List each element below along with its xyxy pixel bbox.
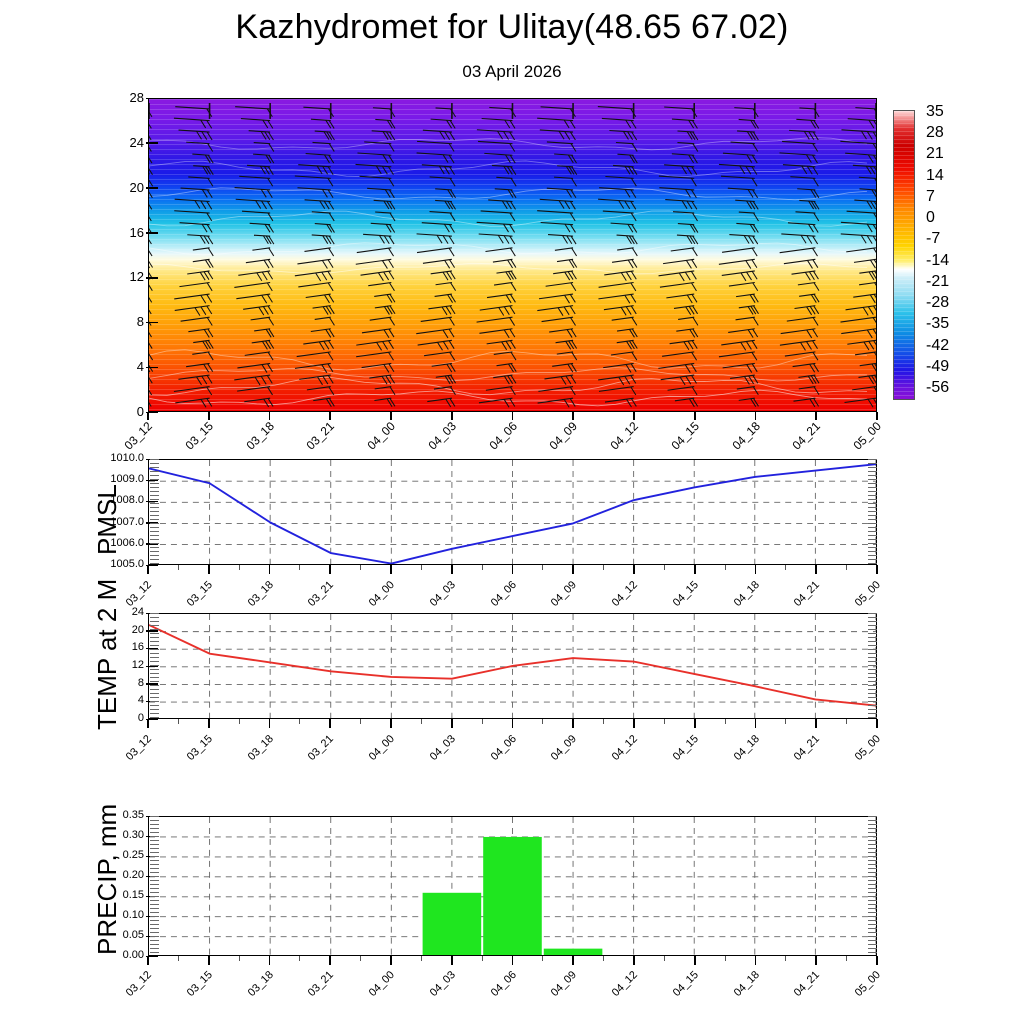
x-tick-mark [208, 412, 210, 420]
x-minor-tick-mark [178, 956, 179, 961]
y-tick-label: 24 [68, 136, 144, 149]
y-tick-mark [146, 232, 158, 234]
x-minor-tick-mark [846, 565, 847, 570]
x-tick-mark [512, 412, 514, 420]
x-tick-label: 04_12 [587, 970, 640, 1023]
y-tick-label: 28 [68, 91, 144, 104]
x-tick-mark [572, 412, 574, 420]
x-tick-label: 05_00 [830, 970, 883, 1023]
colorbar-stripes [894, 111, 914, 399]
x-tick-mark [512, 565, 514, 574]
x-tick-mark [451, 412, 453, 420]
colorbar-tick-label: -56 [926, 380, 949, 396]
x-tick-mark [329, 719, 331, 728]
x-tick-mark [876, 956, 878, 965]
x-minor-tick-mark [542, 719, 543, 724]
temp-plot [149, 614, 876, 719]
colorbar-tick-label: 14 [926, 168, 944, 184]
x-tick-mark [390, 719, 392, 728]
pmsl-plot [149, 460, 876, 565]
x-minor-tick-mark [482, 719, 483, 724]
x-minor-tick-mark [482, 565, 483, 570]
x-minor-tick-mark [846, 719, 847, 724]
x-minor-tick-mark [239, 565, 240, 570]
x-minor-tick-mark [421, 565, 422, 570]
colorbar-tick-label: 35 [926, 104, 944, 120]
x-tick-mark [390, 565, 392, 574]
x-tick-mark [572, 956, 574, 965]
x-minor-tick-mark [664, 565, 665, 570]
x-tick-mark [451, 956, 453, 965]
x-tick-mark [147, 565, 149, 574]
x-tick-mark [876, 565, 878, 574]
x-tick-label: 03_15 [162, 970, 215, 1023]
colorbar-tick-label: 21 [926, 146, 944, 162]
y-tick-label: 0.00 [68, 950, 144, 961]
y-tick-label: 0.30 [68, 830, 144, 841]
x-tick-mark [633, 719, 635, 728]
y-tick-label: 0 [68, 713, 144, 724]
minor-tick-ladder [150, 613, 159, 719]
precip-panel [148, 816, 877, 956]
x-minor-tick-mark [725, 956, 726, 961]
x-tick-mark [694, 412, 696, 420]
y-tick-label: 1008.0 [68, 495, 144, 506]
y-tick-label: 0.05 [68, 930, 144, 941]
page-subtitle: 03 April 2026 [0, 62, 1024, 82]
x-tick-mark [572, 719, 574, 728]
y-tick-label: 0.25 [68, 850, 144, 861]
x-minor-tick-mark [664, 956, 665, 961]
x-minor-tick-mark [542, 565, 543, 570]
x-tick-mark [208, 956, 210, 965]
x-tick-mark [755, 565, 757, 574]
y-tick-mark [146, 187, 158, 189]
x-minor-tick-mark [785, 565, 786, 570]
colorbar-tick-label: -42 [926, 338, 949, 354]
x-tick-mark [269, 565, 271, 574]
x-tick-mark [390, 956, 392, 965]
x-tick-mark [329, 956, 331, 965]
x-minor-tick-mark [603, 565, 604, 570]
x-tick-mark [147, 412, 149, 420]
x-tick-label: 04_21 [769, 734, 822, 787]
x-minor-tick-mark [299, 565, 300, 570]
temp-panel [148, 613, 877, 719]
x-tick-label: 04_18 [708, 970, 761, 1023]
x-tick-mark [694, 719, 696, 728]
sounding-panel [148, 98, 877, 412]
x-tick-mark [815, 412, 817, 420]
colorbar-tick-label: -21 [926, 274, 949, 290]
x-minor-tick-mark [299, 956, 300, 961]
y-tick-mark [146, 98, 158, 100]
x-tick-mark [512, 956, 514, 965]
x-minor-tick-mark [725, 565, 726, 570]
colorbar-tick-label: -49 [926, 359, 949, 375]
y-tick-label: 12 [68, 270, 144, 283]
x-tick-label: 03_15 [162, 734, 215, 787]
x-tick-mark [815, 565, 817, 574]
x-tick-label: 03_12 [101, 970, 154, 1023]
precip-plot [149, 817, 876, 956]
y-tick-label: 8 [68, 315, 144, 328]
x-tick-label: 04_06 [465, 970, 518, 1023]
y-tick-label: 8 [68, 678, 144, 689]
y-tick-label: 20 [68, 181, 144, 194]
x-tick-label: 03_18 [222, 970, 275, 1023]
minor-tick-ladder [150, 816, 159, 956]
x-tick-label: 04_21 [769, 970, 822, 1023]
pmsl-panel [148, 459, 877, 565]
minor-tick-ladder-right [868, 459, 877, 565]
x-tick-mark [208, 719, 210, 728]
x-tick-mark [876, 719, 878, 728]
x-minor-tick-mark [603, 719, 604, 724]
x-minor-tick-mark [360, 956, 361, 961]
wind-barbs [149, 99, 876, 412]
x-tick-mark [694, 565, 696, 574]
minor-tick-ladder-right [868, 816, 877, 956]
y-tick-mark [146, 367, 158, 369]
x-tick-mark [208, 565, 210, 574]
x-tick-label: 03_21 [283, 970, 336, 1023]
x-minor-tick-mark [299, 719, 300, 724]
y-tick-label: 0.35 [68, 810, 144, 821]
colorbar [893, 110, 915, 400]
x-tick-label: 04_00 [344, 970, 397, 1023]
x-minor-tick-mark [421, 719, 422, 724]
y-tick-mark [146, 277, 158, 279]
x-tick-mark [815, 719, 817, 728]
x-tick-mark [876, 412, 878, 420]
y-tick-label: 16 [68, 642, 144, 653]
colorbar-tick-label: 7 [926, 189, 935, 205]
y-tick-label: 1007.0 [68, 517, 144, 528]
y-tick-label: 1005.0 [68, 559, 144, 570]
y-tick-label: 0 [68, 405, 144, 418]
x-tick-mark [815, 956, 817, 965]
x-tick-mark [390, 412, 392, 420]
x-minor-tick-mark [482, 956, 483, 961]
colorbar-tick-label: -28 [926, 295, 949, 311]
minor-tick-ladder-right [868, 613, 877, 719]
x-minor-tick-mark [239, 956, 240, 961]
x-tick-mark [512, 719, 514, 728]
x-tick-label: 04_00 [344, 734, 397, 787]
y-tick-label: 1006.0 [68, 538, 144, 549]
x-tick-mark [755, 719, 757, 728]
x-tick-mark [147, 956, 149, 965]
x-minor-tick-mark [785, 956, 786, 961]
colorbar-tick-label: 0 [926, 210, 935, 226]
y-tick-label: 0.20 [68, 870, 144, 881]
x-minor-tick-mark [239, 719, 240, 724]
y-tick-mark [146, 142, 158, 144]
temp-axis-label: TEMP at 2 M [92, 579, 123, 730]
y-tick-label: 12 [68, 660, 144, 671]
x-tick-label: 04_09 [526, 734, 579, 787]
x-minor-tick-mark [542, 956, 543, 961]
x-tick-mark [269, 719, 271, 728]
x-tick-label: 03_18 [222, 734, 275, 787]
y-tick-label: 1009.0 [68, 474, 144, 485]
x-tick-mark [755, 956, 757, 965]
colorbar-tick-label: -35 [926, 316, 949, 332]
colorbar-tick-label: -7 [926, 231, 940, 247]
x-tick-label: 03_21 [283, 734, 336, 787]
page-title: Kazhydromet for Ulitay(48.65 67.02) [0, 8, 1024, 47]
x-minor-tick-mark [603, 956, 604, 961]
x-minor-tick-mark [421, 956, 422, 961]
x-tick-label: 03_12 [101, 734, 154, 787]
x-minor-tick-mark [725, 719, 726, 724]
x-tick-mark [451, 565, 453, 574]
x-minor-tick-mark [360, 565, 361, 570]
x-tick-label: 03_12 [101, 420, 155, 474]
y-tick-mark [146, 322, 158, 324]
x-tick-label: 04_06 [465, 734, 518, 787]
x-tick-mark [269, 956, 271, 965]
x-tick-label: 04_03 [405, 970, 458, 1023]
x-tick-mark [755, 412, 757, 420]
y-tick-label: 16 [68, 226, 144, 239]
x-tick-mark [329, 565, 331, 574]
x-tick-mark [329, 412, 331, 420]
x-tick-mark [633, 412, 635, 420]
x-tick-mark [694, 956, 696, 965]
y-tick-label: 0.15 [68, 890, 144, 901]
x-tick-mark [451, 719, 453, 728]
x-tick-mark [269, 412, 271, 420]
x-tick-mark [633, 956, 635, 965]
x-minor-tick-mark [178, 719, 179, 724]
y-tick-label: 1010.0 [68, 453, 144, 464]
x-minor-tick-mark [846, 956, 847, 961]
y-tick-label: 4 [68, 695, 144, 706]
x-minor-tick-mark [178, 565, 179, 570]
x-tick-mark [633, 565, 635, 574]
x-tick-label: 04_12 [587, 734, 640, 787]
x-tick-label: 04_15 [648, 970, 701, 1023]
x-minor-tick-mark [664, 719, 665, 724]
y-tick-label: 20 [68, 625, 144, 636]
x-tick-label: 04_03 [405, 734, 458, 787]
y-tick-label: 24 [68, 607, 144, 618]
x-tick-label: 04_15 [648, 734, 701, 787]
y-tick-label: 0.10 [68, 910, 144, 921]
x-tick-label: 05_00 [830, 734, 883, 787]
x-tick-mark [572, 565, 574, 574]
minor-tick-ladder [150, 459, 159, 565]
x-minor-tick-mark [360, 719, 361, 724]
colorbar-tick-label: -14 [926, 253, 949, 269]
x-tick-label: 04_18 [708, 734, 761, 787]
x-tick-mark [147, 719, 149, 728]
x-tick-label: 04_09 [526, 970, 579, 1023]
x-minor-tick-mark [785, 719, 786, 724]
y-tick-label: 4 [68, 360, 144, 373]
colorbar-tick-label: 28 [926, 125, 944, 141]
